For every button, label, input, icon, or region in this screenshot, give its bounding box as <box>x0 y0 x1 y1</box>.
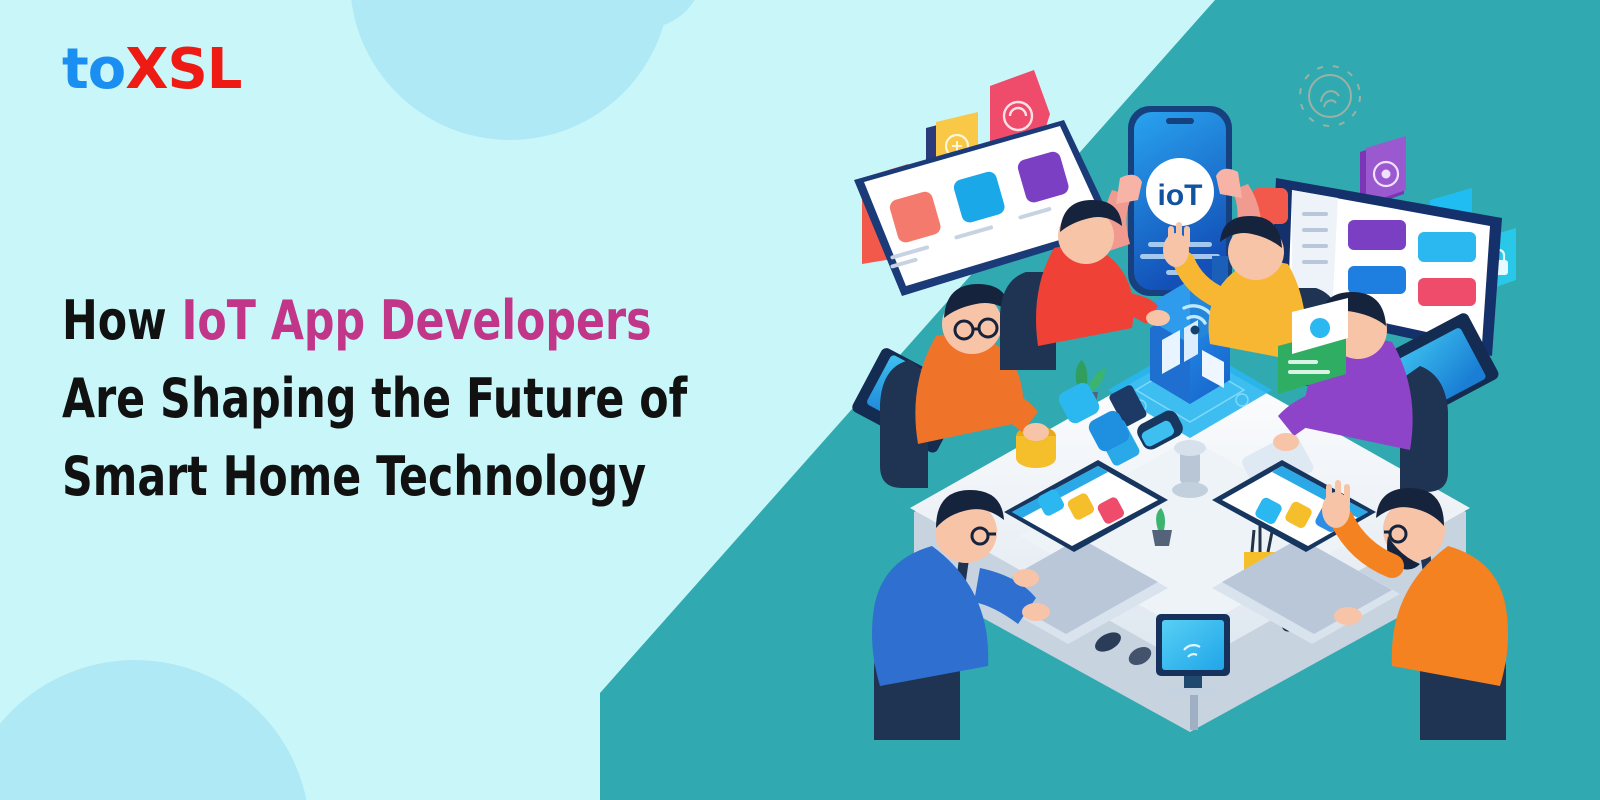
brand-logo[interactable]: toXSL <box>62 42 241 98</box>
logo-text-to: to <box>62 37 125 102</box>
headline-line-3: Smart Home Technology <box>62 438 643 516</box>
cloud-decoration-top <box>300 0 720 140</box>
page-title: How IoT App Developers Are Shaping the F… <box>62 282 722 516</box>
phone-screen-label: ioT <box>1158 179 1203 212</box>
headline-line-1: How IoT App Developers <box>62 282 643 360</box>
headline-line-2: Are Shaping the Future of <box>62 360 643 438</box>
banner-root: toXSL How IoT App Developers Are Shaping… <box>0 0 1600 800</box>
headline-line-1-plain: How <box>62 289 182 352</box>
logo-text-x: X <box>125 37 167 102</box>
person-orange-beard <box>1322 480 1508 740</box>
logo-text-sl: SL <box>167 37 241 102</box>
iot-team-illustration: ioT <box>840 60 1540 740</box>
fingerprint-scan-icon <box>1300 66 1360 126</box>
cloud-decoration-bottom <box>0 620 380 800</box>
headline-line-1-accent: IoT App Developers <box>182 289 652 352</box>
